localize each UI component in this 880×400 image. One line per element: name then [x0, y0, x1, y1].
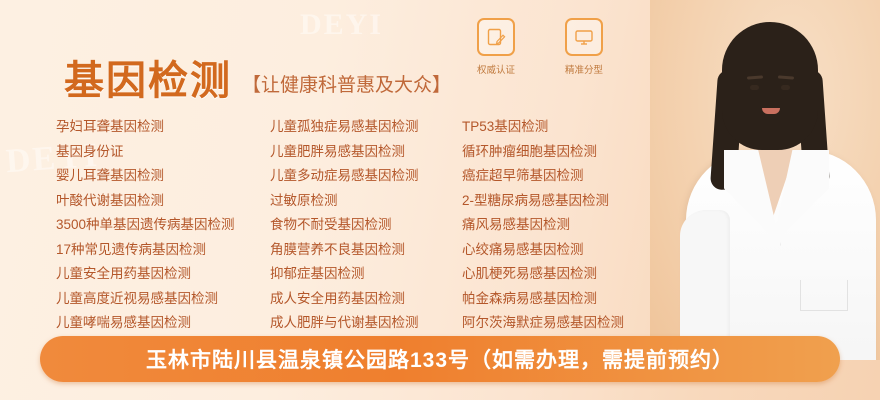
service-item: 抑郁症基因检测	[270, 262, 462, 287]
service-item: 儿童高度近视易感基因检测	[56, 287, 270, 312]
badge-label: 权威认证	[477, 62, 515, 76]
service-item: 角膜营养不良基因检测	[270, 238, 462, 263]
doctor-photo	[650, 0, 880, 360]
certificate-icon	[477, 18, 515, 56]
service-item: 叶酸代谢基因检测	[56, 189, 270, 214]
address-text: 玉林市陆川县温泉镇公园路133号（如需办理，需提前预约）	[146, 344, 734, 374]
coat-pocket	[800, 280, 848, 311]
service-item: 基因身份证	[56, 140, 270, 165]
badge-item: 精准分型	[551, 18, 617, 76]
service-item: 儿童孤独症易感基因检测	[270, 115, 462, 140]
watermark-top-center: DEYI	[300, 8, 383, 42]
service-item: 孕妇耳聋基因检测	[56, 115, 270, 140]
poster-canvas: DEYI DEYI DEYI DEYI 基因检测 【让健康科普惠及大众】 权威认…	[0, 0, 880, 400]
service-item: 儿童多动症易感基因检测	[270, 164, 462, 189]
service-item: 3500种单基因遗传病基因检测	[56, 213, 270, 238]
title-block: 基因检测 【让健康科普惠及大众】	[64, 48, 451, 106]
service-item: 婴儿耳聋基因检测	[56, 164, 270, 189]
page-subtitle: 【让健康科普惠及大众】	[242, 70, 451, 97]
service-item: 过敏原检测	[270, 189, 462, 214]
service-column-2: 儿童孤独症易感基因检测 儿童肥胖易感基因检测 儿童多动症易感基因检测 过敏原检测…	[270, 115, 462, 360]
badge-item: 权威认证	[463, 18, 529, 76]
service-item: 17种常见遗传病基因检测	[56, 238, 270, 263]
eye-left	[750, 85, 759, 90]
service-item: 儿童安全用药基因检测	[56, 262, 270, 287]
service-item: 成人肥胖与代谢基因检测	[270, 311, 462, 336]
address-bar: 玉林市陆川县温泉镇公园路133号（如需办理，需提前预约）	[40, 336, 840, 382]
eye-right	[781, 85, 790, 90]
hair-top	[722, 22, 818, 150]
service-item: 食物不耐受基因检测	[270, 213, 462, 238]
service-item: 成人安全用药基因检测	[270, 287, 462, 312]
service-column-1: 孕妇耳聋基因检测 基因身份证 婴儿耳聋基因检测 叶酸代谢基因检测 3500种单基…	[56, 115, 270, 360]
page-title: 基因检测	[64, 48, 232, 106]
badge-label: 精准分型	[565, 62, 603, 76]
service-item: 儿童肥胖易感基因检测	[270, 140, 462, 165]
service-item: 儿童哮喘易感基因检测	[56, 311, 270, 336]
monitor-icon	[565, 18, 603, 56]
